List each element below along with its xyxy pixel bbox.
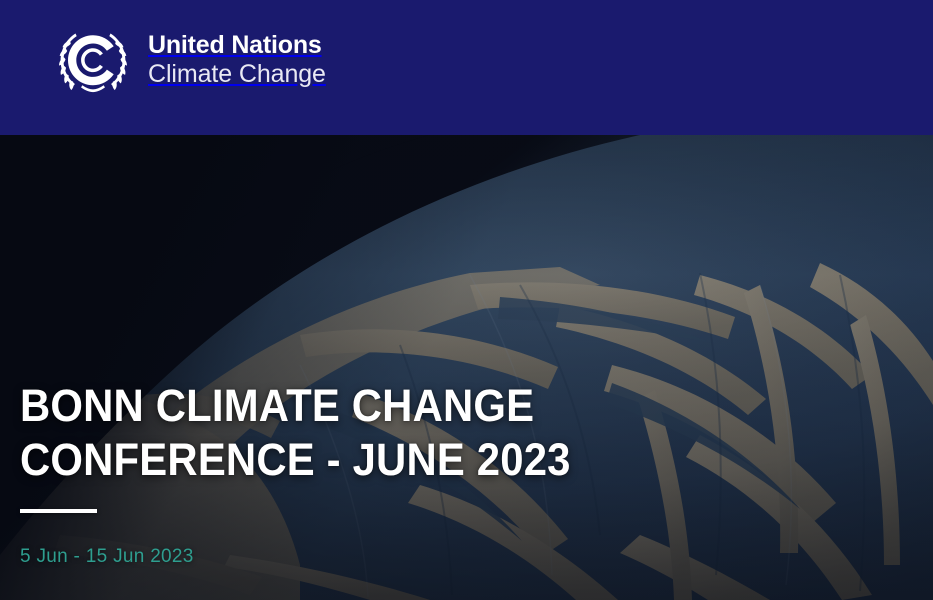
title-divider (20, 509, 97, 513)
brand-text: United Nations Climate Change (148, 33, 326, 87)
brand-logo-link[interactable]: United Nations Climate Change (52, 27, 326, 93)
page-root: United Nations Climate Change (0, 0, 933, 600)
page-title: Bonn Climate Change Conference - June 20… (20, 379, 634, 487)
site-header: United Nations Climate Change (0, 0, 933, 135)
un-climate-change-laurel-logo-icon (52, 27, 134, 93)
brand-line-climate-change: Climate Change (148, 62, 326, 87)
brand-line-united-nations: United Nations (148, 33, 326, 58)
hero-banner: Bonn Climate Change Conference - June 20… (0, 135, 933, 600)
hero-content: Bonn Climate Change Conference - June 20… (20, 379, 680, 600)
event-date-range: 5 Jun - 15 Jun 2023 (20, 546, 680, 568)
